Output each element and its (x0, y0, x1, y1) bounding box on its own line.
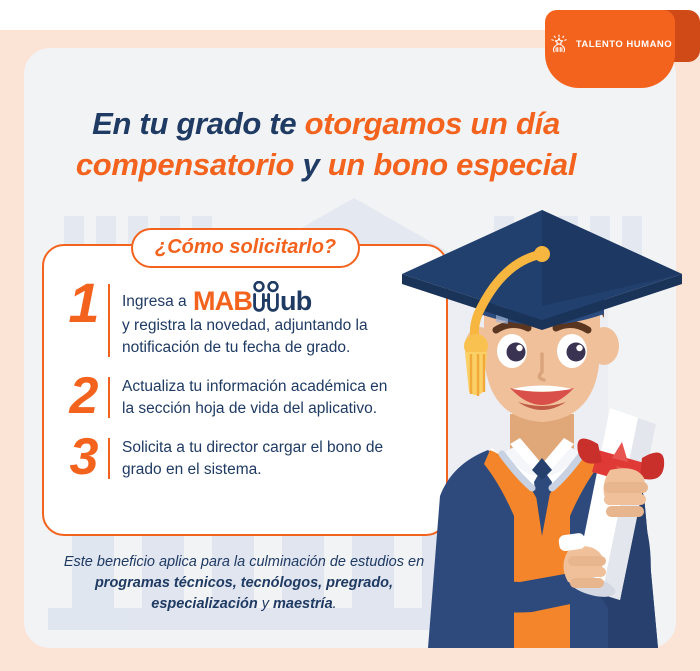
step1-line3: notificación de tu fecha de grado. (122, 339, 350, 356)
step3-line2: grado en el sistema. (122, 461, 262, 478)
section-pill: ¿Cómo solicitarlo? (131, 228, 360, 268)
step1-lead: Ingresa a (122, 293, 187, 310)
mabhub-logo[interactable]: MAB ub (193, 281, 311, 315)
disclaimer-bold-1: programas técnicos, tecnólogos, pregrado… (95, 575, 393, 612)
hands-holding-star-icon (548, 33, 570, 55)
step2-line1: Actualiza tu información académica en (122, 378, 387, 395)
infographic-root: TALENTO HUMANO En tu grado te otorgamos … (0, 0, 700, 671)
step-number: 3 (62, 436, 106, 479)
step-number: 2 (62, 375, 106, 418)
step2-line2: la sección hoja de vida del aplicativo. (122, 400, 377, 417)
step-text: Solicita a tu director cargar el bono de… (122, 436, 383, 481)
title-part-1: En tu grado te (92, 106, 305, 141)
steps-list: 1 Ingresa a MAB ub (42, 244, 448, 536)
title-part-4: un bono especial (328, 147, 576, 182)
page-title: En tu grado te otorgamos un día compensa… (30, 104, 622, 186)
step-text: Actualiza tu información académica en la… (122, 375, 387, 420)
mabhub-ub-text: ub (280, 289, 311, 315)
step-item-2: 2 Actualiza tu información académica en … (62, 375, 448, 420)
disclaimer-part-2: y (258, 596, 273, 612)
mabhub-mab-text: MAB (193, 289, 252, 315)
step1-line2: y registra la novedad, adjuntando la (122, 317, 368, 334)
step-divider (108, 377, 110, 418)
title-part-3: y (294, 147, 328, 182)
step-divider (108, 438, 110, 479)
disclaimer-part-3: . (333, 596, 337, 612)
badge-label: TALENTO HUMANO (576, 39, 672, 50)
step3-line1: Solicita a tu director cargar el bono de (122, 439, 383, 456)
step-item-3: 3 Solicita a tu director cargar el bono … (62, 436, 448, 481)
two-people-h-icon (251, 281, 281, 314)
disclaimer-text: Este beneficio aplica para la culminació… (44, 552, 444, 615)
step-item-1: 1 Ingresa a MAB ub (62, 280, 448, 359)
step-divider (108, 284, 110, 357)
disclaimer-part-1: Este beneficio aplica para la culminació… (64, 554, 424, 570)
step-number: 1 (62, 280, 106, 326)
talento-humano-badge[interactable]: TALENTO HUMANO (545, 10, 675, 88)
disclaimer-bold-2: maestría (273, 596, 333, 612)
step-text: Ingresa a MAB ub y registra la noved (122, 280, 368, 359)
